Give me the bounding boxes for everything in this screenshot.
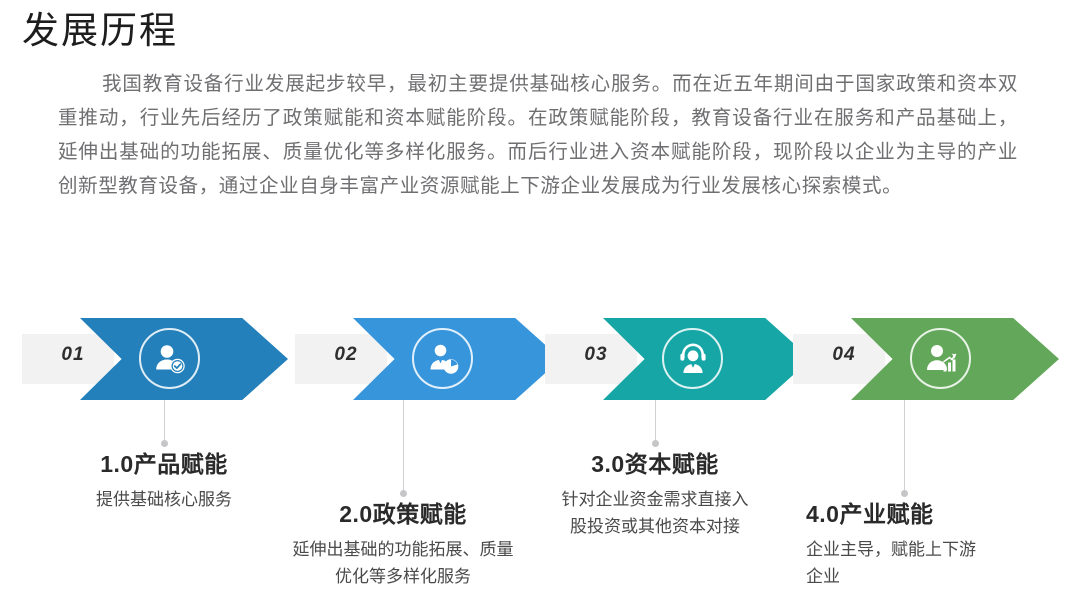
- step-caption-02: 2.0政策赋能 延伸出基础的功能拓展、质量优化等多样化服务: [278, 498, 528, 590]
- step-number-label: 03: [565, 344, 627, 366]
- step-caption-title: 4.0产业赋能: [806, 498, 1006, 530]
- connector-dot-02: [400, 490, 407, 497]
- step-caption-desc: 企业主导，赋能上下游企业: [806, 536, 992, 590]
- user-growth-chart-icon: [924, 342, 958, 376]
- process-chevron-band: 01 02 03: [0, 318, 1080, 400]
- step-caption-title: 2.0政策赋能: [278, 498, 528, 530]
- connector-line-03: [655, 400, 656, 442]
- step-caption-title: 1.0产品赋能: [44, 448, 284, 480]
- step-caption-desc: 针对企业资金需求直接入股投资或其他资本对接: [560, 486, 750, 540]
- connector-dot-04: [901, 490, 908, 497]
- connector-line-01: [164, 400, 165, 442]
- step-caption-03: 3.0资本赋能 针对企业资金需求直接入股投资或其他资本对接: [548, 448, 762, 540]
- connector-dot-01: [161, 440, 168, 447]
- step-icon-circle: [139, 328, 200, 389]
- step-caption-01: 1.0产品赋能 提供基础核心服务: [44, 448, 284, 513]
- step-number-label: 01: [42, 344, 104, 366]
- user-check-icon: [153, 342, 187, 376]
- step-caption-title: 3.0资本赋能: [548, 448, 762, 480]
- page-title: 发展历程: [22, 8, 178, 56]
- step-number-label: 02: [315, 344, 377, 366]
- step-caption-04: 4.0产业赋能 企业主导，赋能上下游企业: [806, 498, 1006, 590]
- connector-line-04: [904, 400, 905, 492]
- intro-paragraph: 我国教育设备行业发展起步较早，最初主要提供基础核心服务。而在近五年期间由于国家政…: [58, 68, 1018, 204]
- support-agent-icon: [676, 342, 710, 376]
- step-caption-desc: 提供基础核心服务: [44, 486, 284, 513]
- step-icon-circle: [412, 328, 473, 389]
- step-caption-desc: 延伸出基础的功能拓展、质量优化等多样化服务: [292, 536, 514, 590]
- connector-line-02: [403, 400, 404, 492]
- step-number-label: 04: [813, 344, 875, 366]
- step-icon-circle: [910, 328, 971, 389]
- businessman-piechart-icon: [426, 342, 460, 376]
- step-icon-circle: [662, 328, 723, 389]
- connector-dot-03: [652, 440, 659, 447]
